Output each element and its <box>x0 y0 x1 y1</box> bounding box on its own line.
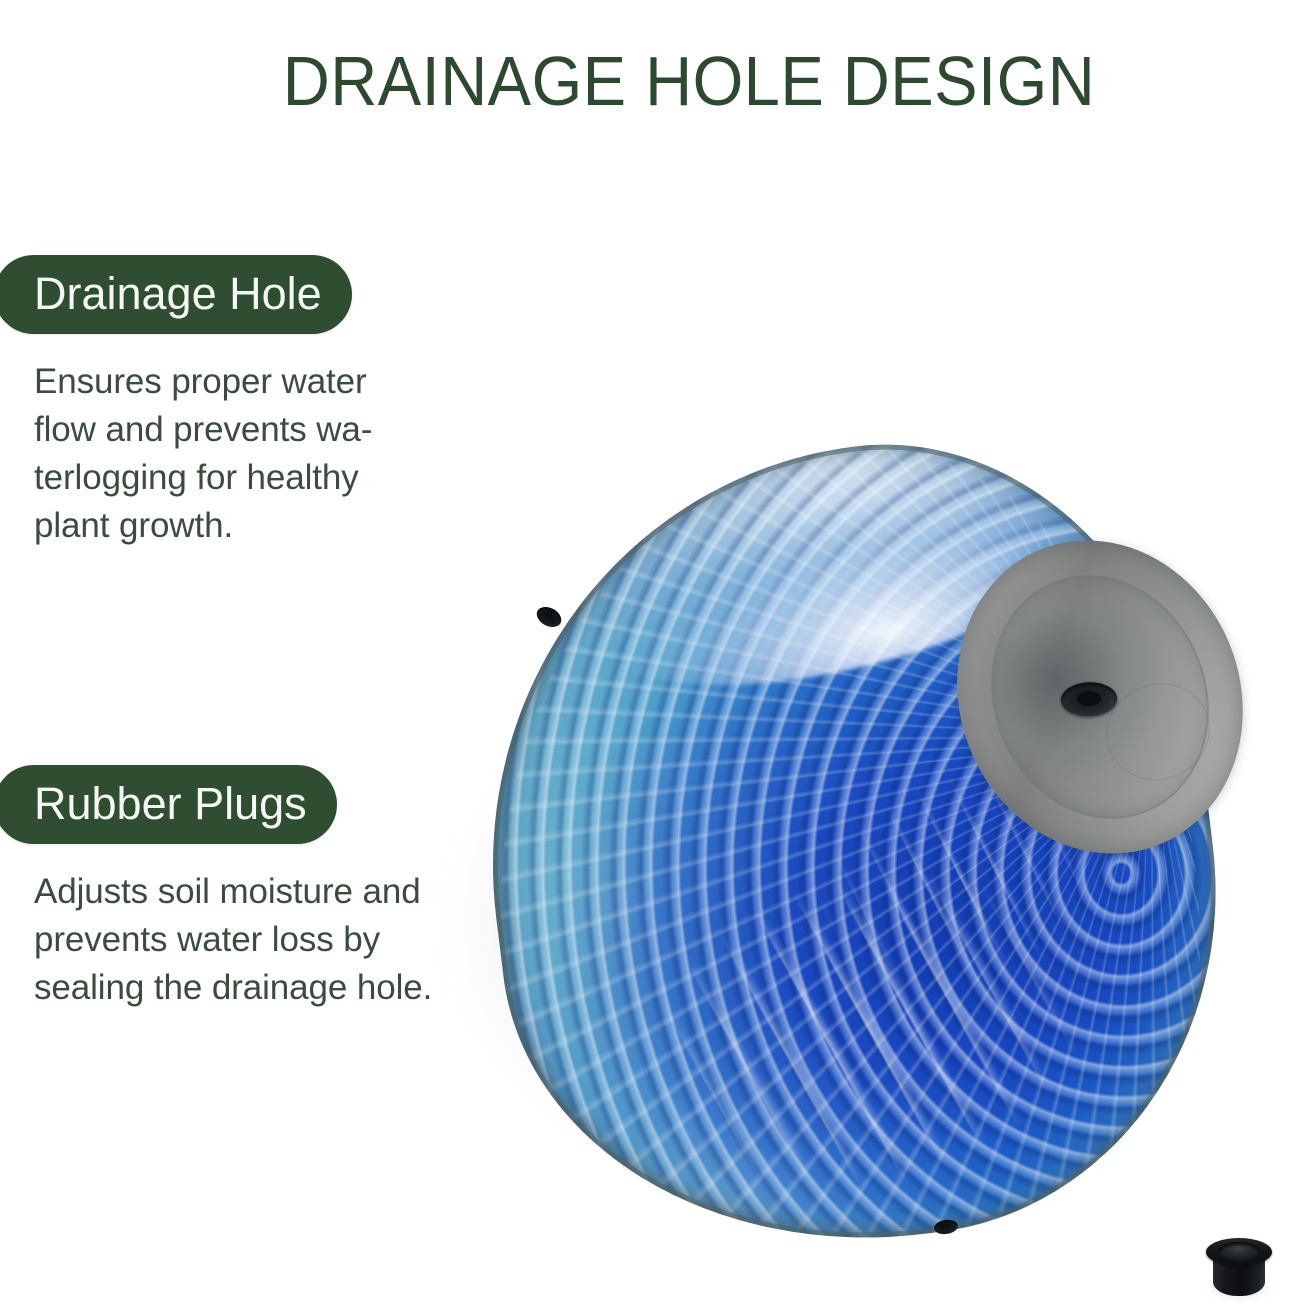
description-rubber-plugs: Adjusts soil moisture and prevents water… <box>34 868 444 1012</box>
page-title: DRAINAGE HOLE DESIGN <box>48 41 1299 121</box>
callout-rubber-plugs: Rubber Plugs Adjusts soil moisture and p… <box>0 765 444 1012</box>
infographic-page: DRAINAGE HOLE DESIGN Drainage Hole Ensur… <box>0 0 1299 1306</box>
rubber-plug-bore <box>1218 1242 1260 1261</box>
rubber-plug-accessory <box>1206 1236 1274 1302</box>
badge-drainage-hole: Drainage Hole <box>0 255 352 334</box>
badge-rubber-plugs: Rubber Plugs <box>0 765 337 844</box>
callout-drainage-hole: Drainage Hole Ensures proper water flow … <box>0 255 412 550</box>
center-drainage-hole-bore <box>1076 691 1101 707</box>
product-photo <box>470 420 1230 1250</box>
description-drainage-hole: Ensures proper water flow and prevents w… <box>34 358 412 550</box>
